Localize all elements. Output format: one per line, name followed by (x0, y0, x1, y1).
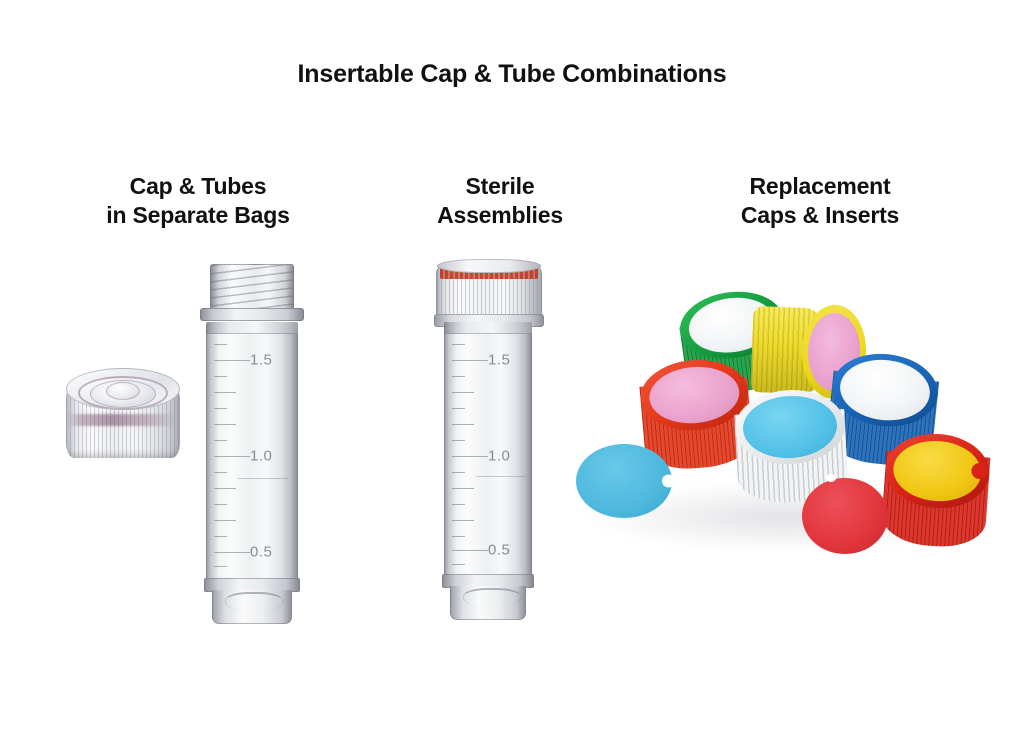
column-heading-separate-bags: Cap & Tubes in Separate Bags (48, 172, 348, 231)
heading-line-1: Sterile (466, 173, 535, 199)
heading-line-2: Caps & Inserts (660, 201, 980, 230)
heading-line-1: Replacement (750, 173, 891, 199)
tube-flange (200, 308, 304, 321)
graduation-label-1-0: 1.0 (250, 448, 272, 465)
graduation-label-0-5: 0.5 (488, 542, 510, 559)
column-heading-sterile-assemblies: Sterile Assemblies (370, 172, 630, 231)
tube-conical-foot (212, 590, 292, 624)
sterile-screw-cap-icon (434, 258, 544, 328)
disc-notch (662, 475, 675, 488)
product-image-graduated-tube: 1.5 1.0 0.5 (198, 262, 306, 612)
tube-conical-foot (450, 586, 526, 620)
cap-center-dome (106, 382, 140, 400)
insert-disc-red-icon (802, 478, 888, 554)
clear-screw-cap-icon (64, 362, 182, 464)
tube-collar (206, 322, 298, 334)
cap-insert-tint (68, 414, 178, 426)
tube-threaded-neck (210, 264, 294, 310)
heading-line-2: in Separate Bags (48, 201, 348, 230)
graduation-label-1-5: 1.5 (488, 352, 510, 369)
disc-notch (826, 474, 836, 482)
product-image-sterile-assembly: 1.5 1.0 0.5 (434, 258, 544, 614)
graduation-label-1-0: 1.0 (488, 448, 510, 465)
product-image-screw-cap (64, 362, 182, 472)
insert-disc-blue-icon (576, 444, 672, 518)
column-heading-replacement-caps: Replacement Caps & Inserts (660, 172, 980, 231)
graduation-label-1-5: 1.5 (250, 352, 272, 369)
cap-red-yellow-icon (880, 431, 992, 550)
tube-graduation-scale: 1.5 1.0 0.5 (212, 338, 292, 574)
page-title: Insertable Cap & Tube Combinations (0, 60, 1024, 89)
cap-top-rim (437, 259, 541, 273)
heading-line-1: Cap & Tubes (130, 173, 267, 199)
tube-graduation-scale: 1.5 1.0 0.5 (450, 340, 526, 570)
heading-line-2: Assemblies (370, 201, 630, 230)
tube-collar (444, 322, 532, 334)
product-comparison-page: Insertable Cap & Tube Combinations Cap &… (0, 0, 1024, 733)
graduation-label-0-5: 0.5 (250, 544, 272, 561)
product-image-replacement-caps (566, 282, 1014, 572)
